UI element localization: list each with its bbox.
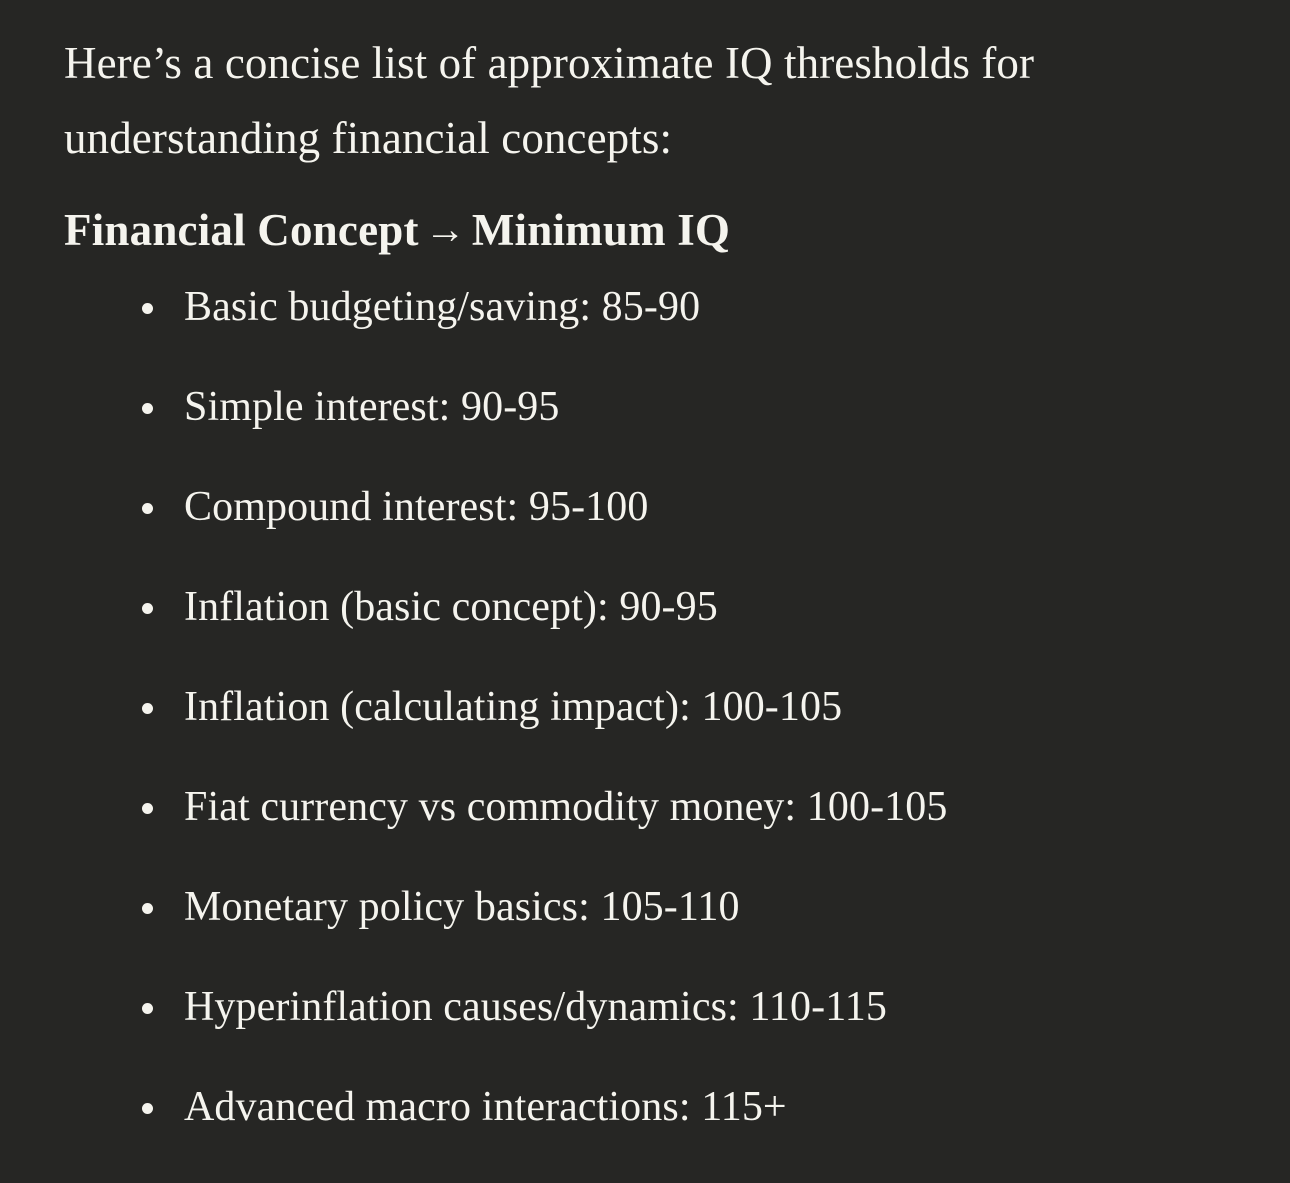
intro-paragraph: Here’s a concise list of approximate IQ … (64, 26, 1184, 176)
bullet-icon (142, 903, 153, 914)
list-item: Simple interest: 90-95 (64, 381, 1226, 433)
section-heading-left: Financial Concept (64, 205, 419, 255)
list-item: Advanced macro interactions: 115+ (64, 1081, 1226, 1133)
bullet-icon (142, 603, 153, 614)
list-item-label: Hyperinflation causes/dynamics: 110-115 (184, 984, 887, 1030)
list-item: Fiat currency vs commodity money: 100-10… (64, 781, 1226, 833)
list-item: Compound interest: 95-100 (64, 481, 1226, 533)
list-item: Hyperinflation causes/dynamics: 110-115 (64, 981, 1226, 1033)
bullet-icon (142, 1103, 153, 1114)
bullet-icon (142, 303, 153, 314)
list-item-label: Monetary policy basics: 105-110 (184, 884, 740, 930)
list-item-label: Simple interest: 90-95 (184, 384, 559, 430)
list-item: Inflation (basic concept): 90-95 (64, 581, 1226, 633)
bullet-icon (142, 803, 153, 814)
list-item-label: Advanced macro interactions: 115+ (184, 1084, 787, 1130)
bullet-icon (142, 503, 153, 514)
list-item-label: Fiat currency vs commodity money: 100-10… (184, 784, 947, 830)
message-body: Here’s a concise list of approximate IQ … (0, 0, 1290, 1183)
list-item: Basic budgeting/saving: 85-90 (64, 281, 1226, 333)
section-heading: Financial Concept→Minimum IQ (64, 194, 1226, 267)
list-item: Monetary policy basics: 105-110 (64, 881, 1226, 933)
bullet-icon (142, 1003, 153, 1014)
list-item-label: Inflation (calculating impact): 100-105 (184, 684, 842, 730)
bullet-icon (142, 403, 153, 414)
list-item-label: Compound interest: 95-100 (184, 484, 648, 530)
iq-threshold-list: Basic budgeting/saving: 85-90 Simple int… (64, 281, 1226, 1133)
section-heading-right: Minimum IQ (472, 205, 730, 255)
arrow-right-icon: → (419, 193, 472, 265)
list-item-label: Inflation (basic concept): 90-95 (184, 584, 718, 630)
bullet-icon (142, 703, 153, 714)
list-item: Inflation (calculating impact): 100-105 (64, 681, 1226, 733)
list-item-label: Basic budgeting/saving: 85-90 (184, 284, 700, 330)
